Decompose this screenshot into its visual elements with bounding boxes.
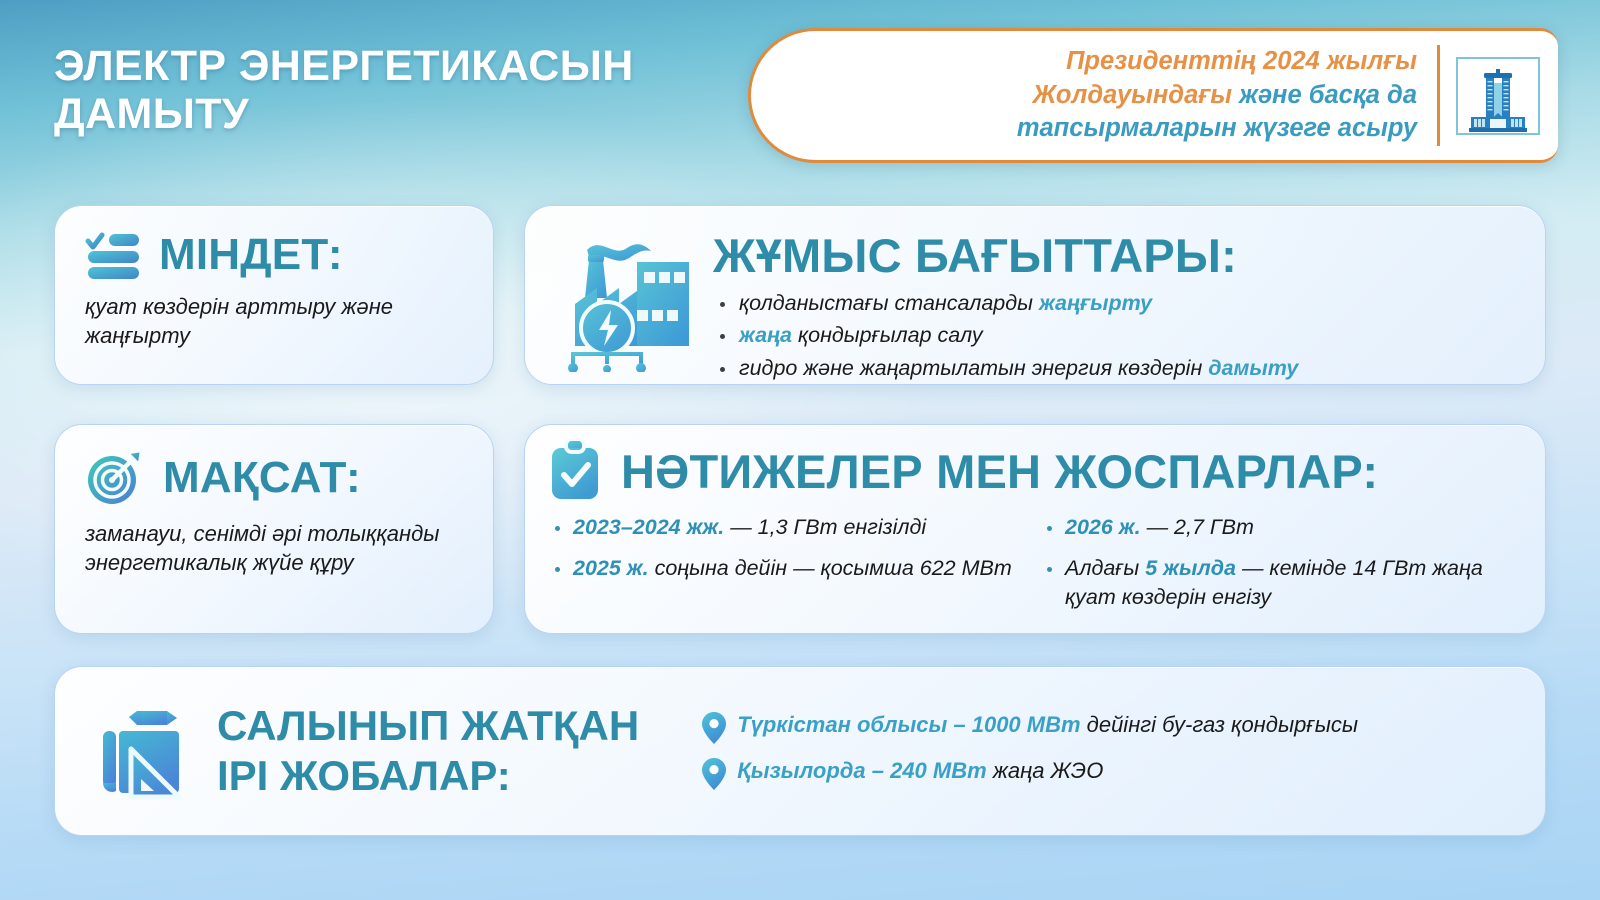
list-item: 2026 ж. — 2,7 ГВт — [1039, 513, 1523, 542]
card-goal-header: МАҚСАТ: — [85, 449, 467, 507]
list-item: Түркістан облысы – 1000 МВт дейінгі бу-г… — [701, 711, 1517, 745]
bullet-post: — 1,3 ГВт енгізілді — [724, 515, 926, 539]
card-results-left-column: 2023–2024 жж. — 1,3 ГВт енгізілді 2025 ж… — [547, 513, 1031, 625]
bullet-highlight: 5 жылда — [1145, 556, 1236, 580]
badge-line3: тапсырмаларын жүзеге асыру — [1017, 114, 1417, 142]
project-rest: жаңа ЖЭО — [987, 758, 1104, 783]
card-directions-bullets: қолданыстағы стансаларды жаңғырту жаңа қ… — [713, 289, 1519, 383]
card-results-right-column: 2026 ж. — 2,7 ГВт Алдағы 5 жылда — кемін… — [1039, 513, 1523, 625]
card-task-title: МІНДЕТ: — [159, 230, 343, 280]
blueprint-tools-icon — [91, 699, 195, 803]
bullet-post: соңына дейін — қосымша 622 МВт — [649, 556, 1012, 580]
president-address-badge: Президенттің 2024 жылғы Жолдауындағы жән… — [748, 28, 1558, 163]
card-task: МІНДЕТ: қуат көздерін арттыру және жаңғы… — [54, 205, 494, 385]
bullet-pre: Алдағы — [1065, 556, 1145, 580]
bullet-post: қондырғылар салу — [792, 323, 983, 347]
bullet-pre: гидро және жаңартылатын энергия көздерін — [739, 356, 1208, 380]
list-item: Қызылорда – 240 МВт жаңа ЖЭО — [701, 757, 1517, 791]
checklist-icon — [85, 230, 141, 280]
target-icon — [85, 449, 145, 507]
list-item: жаңа қондырғылар салу — [713, 321, 1519, 350]
card-projects-title: САЛЫНЫП ЖАТҚАН ІРІ ЖОБАЛАР: — [217, 701, 639, 800]
badge-line2-accent: Жолдауындағы — [1033, 81, 1232, 109]
page-title: ЭЛЕКТР ЭНЕРГЕТИКАСЫН ДАМЫТУ — [54, 42, 754, 138]
card-directions-title: ЖҰМЫС БАҒЫТТАРЫ: — [713, 228, 1519, 283]
government-building-icon — [1456, 57, 1540, 135]
list-item: Алдағы 5 жылда — кемінде 14 ГВт жаңа қуа… — [1039, 554, 1523, 612]
card-goal: МАҚСАТ: заманауи, сенімді әрі толыққанды… — [54, 424, 494, 634]
card-directions: ЖҰМЫС БАҒЫТТАРЫ: қолданыстағы стансалард… — [524, 205, 1546, 385]
bullet-pre: қолданыстағы стансаларды — [739, 291, 1039, 315]
card-goal-body: заманауи, сенімді әрі толыққанды энергет… — [85, 519, 467, 578]
card-results-header: НӘТИЖЕЛЕР МЕН ЖОСПАРЛАР: — [547, 439, 1523, 503]
badge-line2-rest: және басқа да — [1232, 81, 1417, 109]
card-results: НӘТИЖЕЛЕР МЕН ЖОСПАРЛАР: 2023–2024 жж. —… — [524, 424, 1546, 634]
map-pin-icon — [701, 757, 727, 791]
list-item: 2023–2024 жж. — 1,3 ГВт енгізілді — [547, 513, 1031, 542]
bullet-highlight: 2026 ж. — [1065, 515, 1141, 539]
project-highlight: Қызылорда – 240 МВт — [737, 758, 987, 783]
project-text: Түркістан облысы – 1000 МВт дейінгі бу-г… — [737, 711, 1358, 740]
bullet-highlight: жаңғырту — [1039, 291, 1152, 315]
card-projects-items: Түркістан облысы – 1000 МВт дейінгі бу-г… — [701, 711, 1517, 791]
power-plant-icon — [549, 222, 699, 372]
list-item: гидро және жаңартылатын энергия көздерін… — [713, 354, 1519, 383]
card-task-body: қуат көздерін арттыру және жаңғырту — [85, 292, 467, 351]
bullet-highlight: 2023–2024 жж. — [573, 515, 724, 539]
card-projects: САЛЫНЫП ЖАТҚАН ІРІ ЖОБАЛАР: Түркістан об… — [54, 666, 1546, 836]
bullet-post: — 2,7 ГВт — [1141, 515, 1254, 539]
page-header: ЭЛЕКТР ЭНЕРГЕТИКАСЫН ДАМЫТУ Президенттің… — [0, 0, 1600, 175]
card-task-header: МІНДЕТ: — [85, 230, 467, 280]
project-text: Қызылорда – 240 МВт жаңа ЖЭО — [737, 757, 1103, 786]
list-item: қолданыстағы стансаларды жаңғырту — [713, 289, 1519, 318]
project-rest: дейінгі бу-газ қондырғысы — [1081, 712, 1359, 737]
card-projects-title-line1: САЛЫНЫП ЖАТҚАН — [217, 701, 639, 751]
card-goal-title: МАҚСАТ: — [163, 453, 361, 503]
card-results-title: НӘТИЖЕЛЕР МЕН ЖОСПАРЛАР: — [621, 444, 1378, 499]
list-item: 2025 ж. соңына дейін — қосымша 622 МВт — [547, 554, 1031, 583]
clipboard-check-icon — [547, 439, 603, 503]
card-projects-title-line2: ІРІ ЖОБАЛАР: — [217, 751, 639, 801]
badge-text: Президенттің 2024 жылғы Жолдауындағы жән… — [1017, 45, 1440, 147]
bullet-highlight: жаңа — [739, 323, 792, 347]
bullet-highlight: дамыту — [1208, 356, 1298, 380]
bullet-highlight: 2025 ж. — [573, 556, 649, 580]
project-highlight: Түркістан облысы – 1000 МВт — [737, 712, 1080, 737]
map-pin-icon — [701, 711, 727, 745]
badge-line1: Президенттің 2024 жылғы — [1066, 47, 1417, 75]
